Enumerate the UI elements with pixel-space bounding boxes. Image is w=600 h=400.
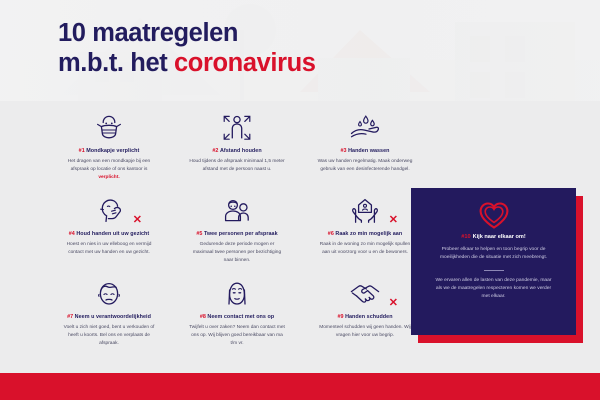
no-face-touch-icon: ✕ xyxy=(52,195,166,225)
measure-title-text: Handen schudden xyxy=(345,314,392,320)
card-title: #10Kijk naar elkaar om! xyxy=(425,234,562,240)
measure-body-text: Hoest en nies in uw elleboog en vermijd … xyxy=(67,242,152,255)
measure-number: #1 xyxy=(79,148,85,154)
measure-body: Voelt u zich niet goed, bent u verkouden… xyxy=(52,324,166,347)
measure-body: Was uw handen regelmatig. Maak onderweg … xyxy=(308,158,422,174)
card-paragraph-2: We ervaren allen de lasten van deze pand… xyxy=(425,277,562,302)
hand-washing-icon xyxy=(308,112,422,142)
measure-body-text: Twijfelt u over zaken? Neem dan contact … xyxy=(189,325,285,346)
social-distance-icon xyxy=(180,112,294,142)
measure-body-text: Momenteel schudden wij geen handen. Wij … xyxy=(319,325,410,338)
measures-grid: #1Mondkapje verplichtHet dragen van een … xyxy=(48,112,426,361)
measure-title-text: Handen wassen xyxy=(348,148,389,154)
page-title-line-2-plain: m.b.t. het xyxy=(58,49,174,77)
heart-icon xyxy=(425,201,562,229)
measure-item: ✕#6Raak zo min mogelijk aanRaak in de wo… xyxy=(304,195,426,278)
measure-number: #9 xyxy=(337,314,343,320)
measure-title-text: Mondkapje verplicht xyxy=(86,148,139,154)
measure-body: Hoest en nies in uw elleboog en vermijd … xyxy=(52,241,166,257)
measure-title-text: Raak zo min mogelijk aan xyxy=(335,231,402,237)
prohibition-x-icon: ✕ xyxy=(133,215,142,226)
page-title: 10 maatregelen m.b.t. het coronavirus xyxy=(58,19,316,79)
measure-item: #5Twee personen per afspraakGedurende de… xyxy=(176,195,298,278)
measure-item: #7Neem u verantwoordelijkheidVoelt u zic… xyxy=(48,278,170,361)
card-paragraph-1: Probeer elkaar te helpen en toon begrip … xyxy=(425,246,562,263)
measure-title-text: Houd handen uit uw gezicht xyxy=(76,231,149,237)
measure-title: #9Handen schudden xyxy=(308,314,422,320)
prohibition-x-icon: ✕ xyxy=(389,298,398,309)
two-people-icon xyxy=(180,195,294,225)
measure-title: #6Raak zo min mogelijk aan xyxy=(308,231,422,237)
measure-body: Gedurende deze periode mogen er maximaal… xyxy=(180,241,294,264)
measure-title: #4Houd handen uit uw gezicht xyxy=(52,231,166,237)
sick-person-icon xyxy=(52,278,166,308)
measure-item: #1Mondkapje verplichtHet dragen van een … xyxy=(48,112,170,195)
page-title-line-1: 10 maatregelen xyxy=(58,19,316,49)
measure-body-emphasis: verplicht. xyxy=(98,175,119,180)
card-number: #10 xyxy=(461,234,470,240)
measure-body-text: Het dragen van een mondkapje bij een afs… xyxy=(68,159,150,172)
face-mask-icon xyxy=(52,112,166,142)
measure-body-text: Houd tijdens de afspraak minimaal 1,5 me… xyxy=(189,159,284,172)
measure-number: #2 xyxy=(212,148,218,154)
measure-body: Houd tijdens de afspraak minimaal 1,5 me… xyxy=(180,158,294,174)
card-divider xyxy=(484,270,504,271)
measure-title-text: Twee personen per afspraak xyxy=(204,231,278,237)
measure-body-text: Was uw handen regelmatig. Maak onderweg … xyxy=(318,159,413,172)
page-title-line-2-accent: coronavirus xyxy=(174,49,316,77)
measure-item: #2Afstand houdenHoud tijdens de afspraak… xyxy=(176,112,298,195)
no-touch-house-icon: ✕ xyxy=(308,195,422,225)
measure-title-text: Neem u verantwoordelijkheid xyxy=(75,314,151,320)
measure-item: ✕#9Handen schuddenMomenteel schudden wij… xyxy=(304,278,426,361)
measure-body: Raak in de woning zo min mogelijk spulle… xyxy=(308,241,422,257)
prohibition-x-icon: ✕ xyxy=(389,215,398,226)
bottom-accent-bar xyxy=(0,373,600,400)
measure-title: #2Afstand houden xyxy=(180,148,294,154)
measure-title-text: Afstand houden xyxy=(220,148,262,154)
measure-title: #3Handen wassen xyxy=(308,148,422,154)
contact-person-icon xyxy=(180,278,294,308)
page-title-line-2: m.b.t. het coronavirus xyxy=(58,49,316,79)
measure-card-10: #10Kijk naar elkaar om! Probeer elkaar t… xyxy=(411,188,576,335)
measure-item: #3Handen wassenWas uw handen regelmatig.… xyxy=(304,112,426,195)
no-handshake-icon: ✕ xyxy=(308,278,422,308)
measure-item: #8Neem contact met ons opTwijfelt u over… xyxy=(176,278,298,361)
measure-number: #7 xyxy=(67,314,73,320)
measure-title: #1Mondkapje verplicht xyxy=(52,148,166,154)
measure-title: #8Neem contact met ons op xyxy=(180,314,294,320)
measure-body: Momenteel schudden wij geen handen. Wij … xyxy=(308,324,422,340)
measure-title-text: Neem contact met ons op xyxy=(207,314,274,320)
header-banner: 10 maatregelen m.b.t. het coronavirus xyxy=(0,0,600,101)
measure-title: #7Neem u verantwoordelijkheid xyxy=(52,314,166,320)
measure-body: Twijfelt u over zaken? Neem dan contact … xyxy=(180,324,294,347)
measure-body-text: Gedurende deze periode mogen er maximaal… xyxy=(193,242,281,263)
measure-number: #6 xyxy=(328,231,334,237)
card-title-text: Kijk naar elkaar om! xyxy=(473,234,526,240)
measure-body-text: Voelt u zich niet goed, bent u verkouden… xyxy=(64,325,155,346)
measure-number: #8 xyxy=(200,314,206,320)
measure-body-text: Raak in de woning zo min mogelijk spulle… xyxy=(320,242,410,255)
measure-body: Het dragen van een mondkapje bij een afs… xyxy=(52,158,166,181)
measure-number: #5 xyxy=(196,231,202,237)
measure-number: #3 xyxy=(340,148,346,154)
measure-item: ✕#4Houd handen uit uw gezichtHoest en ni… xyxy=(48,195,170,278)
measure-title: #5Twee personen per afspraak xyxy=(180,231,294,237)
measure-number: #4 xyxy=(69,231,75,237)
